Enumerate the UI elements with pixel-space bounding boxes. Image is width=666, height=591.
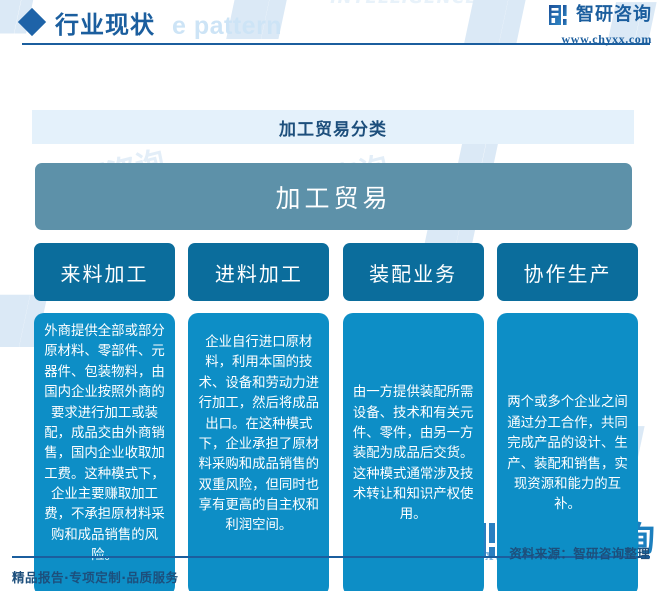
category-description: 两个或多个企业之间通过分工合作，共同完成产品的设计、生产、装配和销售，实现资源和… xyxy=(505,393,630,515)
category-body: 由一方提供装配所需设备、技术和有关元件、零件，由另一方装配为成品后交货。这种模式… xyxy=(343,313,484,591)
category-header: 协作生产 xyxy=(497,243,638,301)
footer-tagline: 精品报告·专项定制·品质服务 xyxy=(12,567,179,586)
category-header: 装配业务 xyxy=(343,243,484,301)
page-header: 行业现状 智研咨询 xyxy=(0,0,666,48)
page-title: 行业现状 xyxy=(55,5,155,40)
root-node: 加工贸易 xyxy=(35,163,632,230)
footer-source: 资料来源：智研咨询整理 xyxy=(509,543,650,562)
category-description: 外商提供全部或部分原材料、零部件、元器件、包装物料，由国内企业按照外商的要求进行… xyxy=(42,322,167,567)
brand-block: 智研咨询 www.chyxx.com xyxy=(549,5,652,47)
category-body: 企业自行进口原材料，利用本国的技术、设备和劳动力进行加工，然后将成品出口。在这种… xyxy=(188,313,329,591)
diagram-title: 加工贸易分类 xyxy=(32,110,634,144)
category-body: 外商提供全部或部分原材料、零部件、元器件、包装物料，由国内企业按照外商的要求进行… xyxy=(34,313,175,591)
brand-url: www.chyxx.com xyxy=(549,32,652,47)
category-column: 进料加工 企业自行进口原材料，利用本国的技术、设备和劳动力进行加工，然后将成品出… xyxy=(188,243,329,591)
category-header: 进料加工 xyxy=(188,243,329,301)
category-column: 装配业务 由一方提供装配所需设备、技术和有关元件、零件，由另一方装配为成品后交货… xyxy=(343,243,484,591)
brand-name: 智研咨询 xyxy=(576,6,652,24)
chyxx-logo-icon xyxy=(549,5,570,25)
slide-page: █▌ █▌ INTELLIGENCE █▌ █▌ █▌ █▌ █▌ █▌ e p… xyxy=(0,0,666,591)
category-column: 协作生产 两个或多个企业之间通过分工合作，共同完成产品的设计、生产、装配和销售，… xyxy=(497,243,638,591)
category-description: 企业自行进口原材料，利用本国的技术、设备和劳动力进行加工，然后将成品出口。在这种… xyxy=(196,333,321,537)
category-column: 来料加工 外商提供全部或部分原材料、零部件、元器件、包装物料，由国内企业按照外商… xyxy=(34,243,175,591)
category-description: 由一方提供装配所需设备、技术和有关元件、零件，由另一方装配为成品后交货。这种模式… xyxy=(351,383,476,526)
brand-row: 智研咨询 xyxy=(549,5,652,25)
category-columns: 来料加工 外商提供全部或部分原材料、零部件、元器件、包装物料，由国内企业按照外商… xyxy=(34,243,638,591)
diamond-icon xyxy=(18,8,46,36)
category-header: 来料加工 xyxy=(34,243,175,301)
